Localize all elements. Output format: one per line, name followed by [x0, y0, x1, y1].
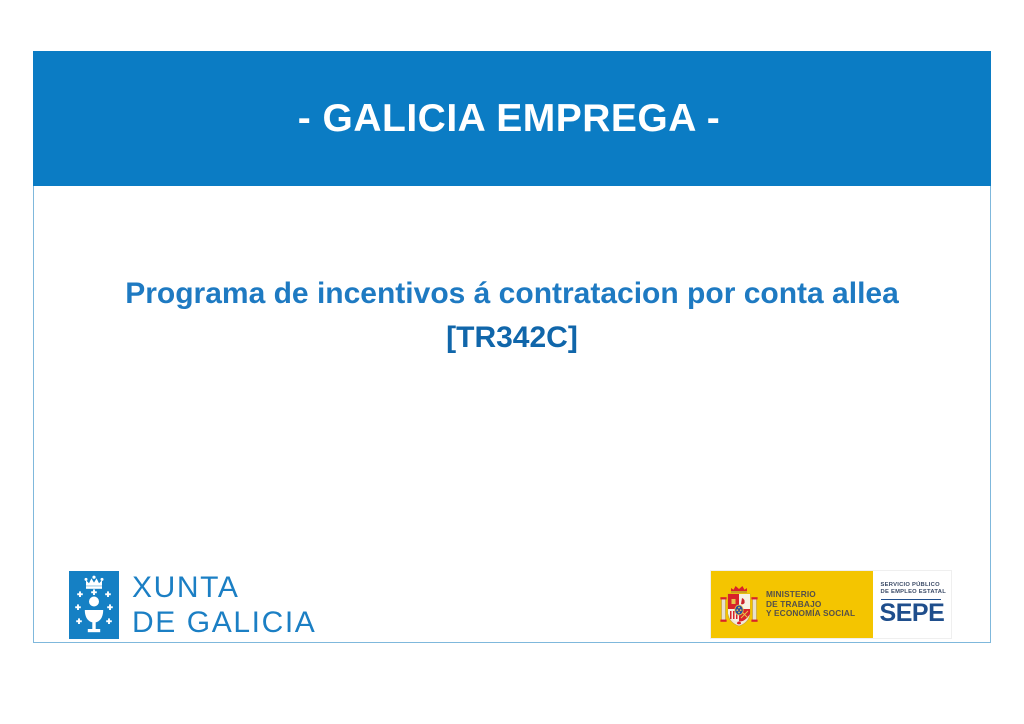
sepe-tagline-line2: DE EMPLEO ESTATAL — [881, 589, 946, 596]
ministerio-wordmark: MINISTERIO DE TRABAJO Y ECONOMÍA SOCIAL — [766, 590, 855, 619]
logo-row: XUNTA DE GALICIA — [34, 518, 990, 638]
xunta-wordmark-line1: XUNTA — [132, 573, 316, 603]
sepe-acronym: SEPE — [878, 601, 945, 626]
program-code: [TR342C] — [102, 316, 922, 360]
program-subtitle: Programa de incentivos á contratacion po… — [102, 187, 922, 316]
sepe-tagline: SERVICIO PÚBLICO DE EMPLEO ESTATAL — [878, 582, 946, 596]
sepe-panel: SERVICIO PÚBLICO DE EMPLEO ESTATAL SEPE — [873, 571, 951, 638]
ministerio-line3: Y ECONOMÍA SOCIAL — [766, 609, 855, 619]
page-title: - GALICIA EMPREGA - — [298, 97, 721, 141]
galicia-coat-of-arms-icon — [69, 571, 119, 639]
spain-emblem-svg — [718, 580, 760, 630]
xunta-wordmark-line2: DE GALICIA — [132, 608, 316, 638]
slide-frame: - GALICIA EMPREGA - Programa de incentiv… — [33, 51, 991, 643]
xunta-de-galicia-logo: XUNTA DE GALICIA — [69, 571, 316, 639]
slide-banner: - GALICIA EMPREGA - — [33, 51, 991, 186]
sepe-tagline-line1: SERVICIO PÚBLICO — [881, 582, 940, 589]
ministerio-panel: MINISTERIO DE TRABAJO Y ECONOMÍA SOCIAL — [711, 571, 873, 638]
slide-body: Programa de incentivos á contratacion po… — [34, 187, 990, 360]
xunta-wordmark: XUNTA DE GALICIA — [132, 573, 316, 638]
galicia-emblem-svg — [69, 571, 119, 639]
spain-coat-of-arms-icon — [718, 580, 760, 630]
ministerio-sepe-logo: MINISTERIO DE TRABAJO Y ECONOMÍA SOCIAL … — [711, 571, 951, 638]
